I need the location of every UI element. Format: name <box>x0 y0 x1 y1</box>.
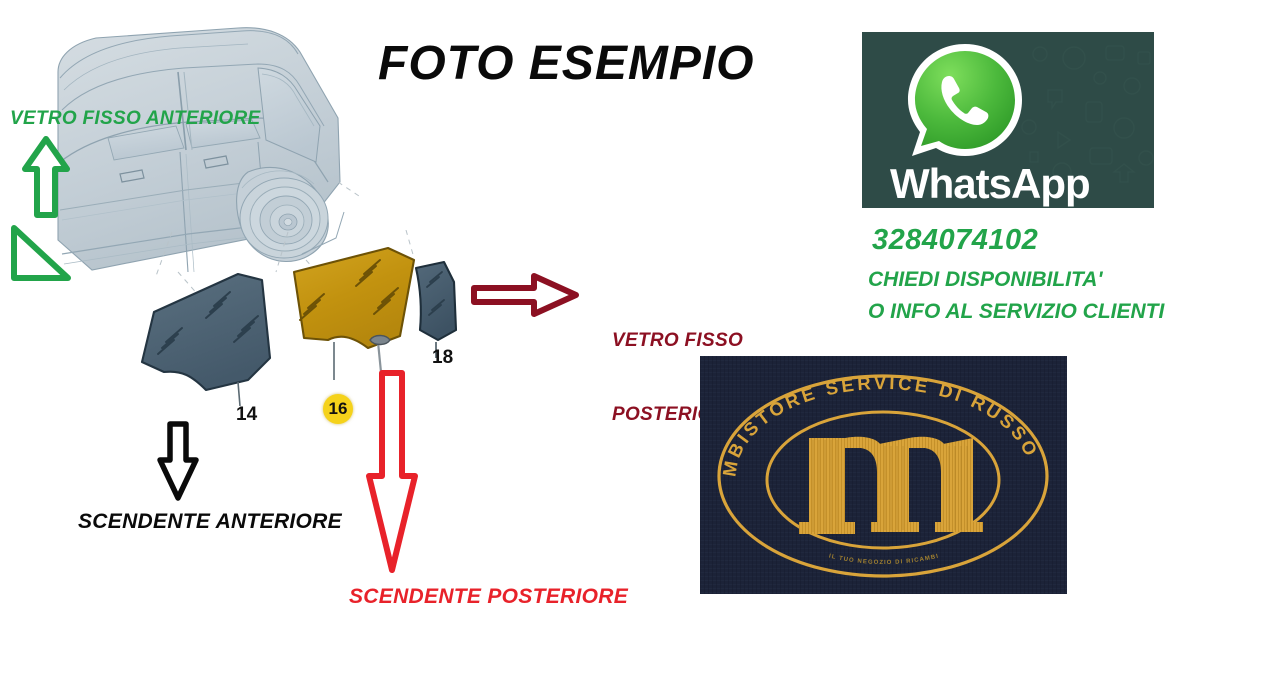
black-down-arrow-icon <box>156 420 200 507</box>
green-up-arrow-icon <box>22 135 70 224</box>
whatsapp-wordmark: WhatsApp <box>890 160 1090 208</box>
part-18-shape <box>416 262 456 340</box>
logo-monogram <box>799 437 983 534</box>
exploded-glass-parts <box>120 230 520 450</box>
part-16-shape <box>294 248 414 348</box>
whatsapp-logo-icon <box>904 40 1026 167</box>
phone-number[interactable]: 3284074102 <box>872 224 1038 257</box>
green-triangle-icon <box>8 222 74 289</box>
label-scendente-posteriore: SCENDENTE POSTERIORE <box>349 585 628 609</box>
label-vetro-fisso-anteriore: VETRO FISSO ANTERIORE <box>10 108 261 130</box>
poster-canvas: FOTO ESEMPIO <box>0 0 1264 678</box>
label-vetro-fisso-posteriore-line1: VETRO FISSO <box>612 329 743 354</box>
maroon-right-arrow-icon <box>470 271 580 324</box>
part-number-14: 14 <box>236 404 257 426</box>
label-scendente-anteriore: SCENDENTE ANTERIORE <box>78 510 342 534</box>
red-down-arrow-icon <box>364 368 420 581</box>
contact-line-customer-service: O INFO AL SERVIZIO CLIENTI <box>868 300 1164 324</box>
page-title: FOTO ESEMPIO <box>378 36 755 91</box>
company-logo: MRICAMBISTORE SERVICE DI RUSSO MARCO IL … <box>700 356 1067 594</box>
whatsapp-banner: WhatsApp <box>862 32 1154 208</box>
part-14-shape <box>142 274 270 390</box>
part-number-18: 18 <box>432 347 453 369</box>
part-number-16-badge: 16 <box>323 394 353 424</box>
contact-line-availability: CHIEDI DISPONIBILITA' <box>868 268 1102 292</box>
